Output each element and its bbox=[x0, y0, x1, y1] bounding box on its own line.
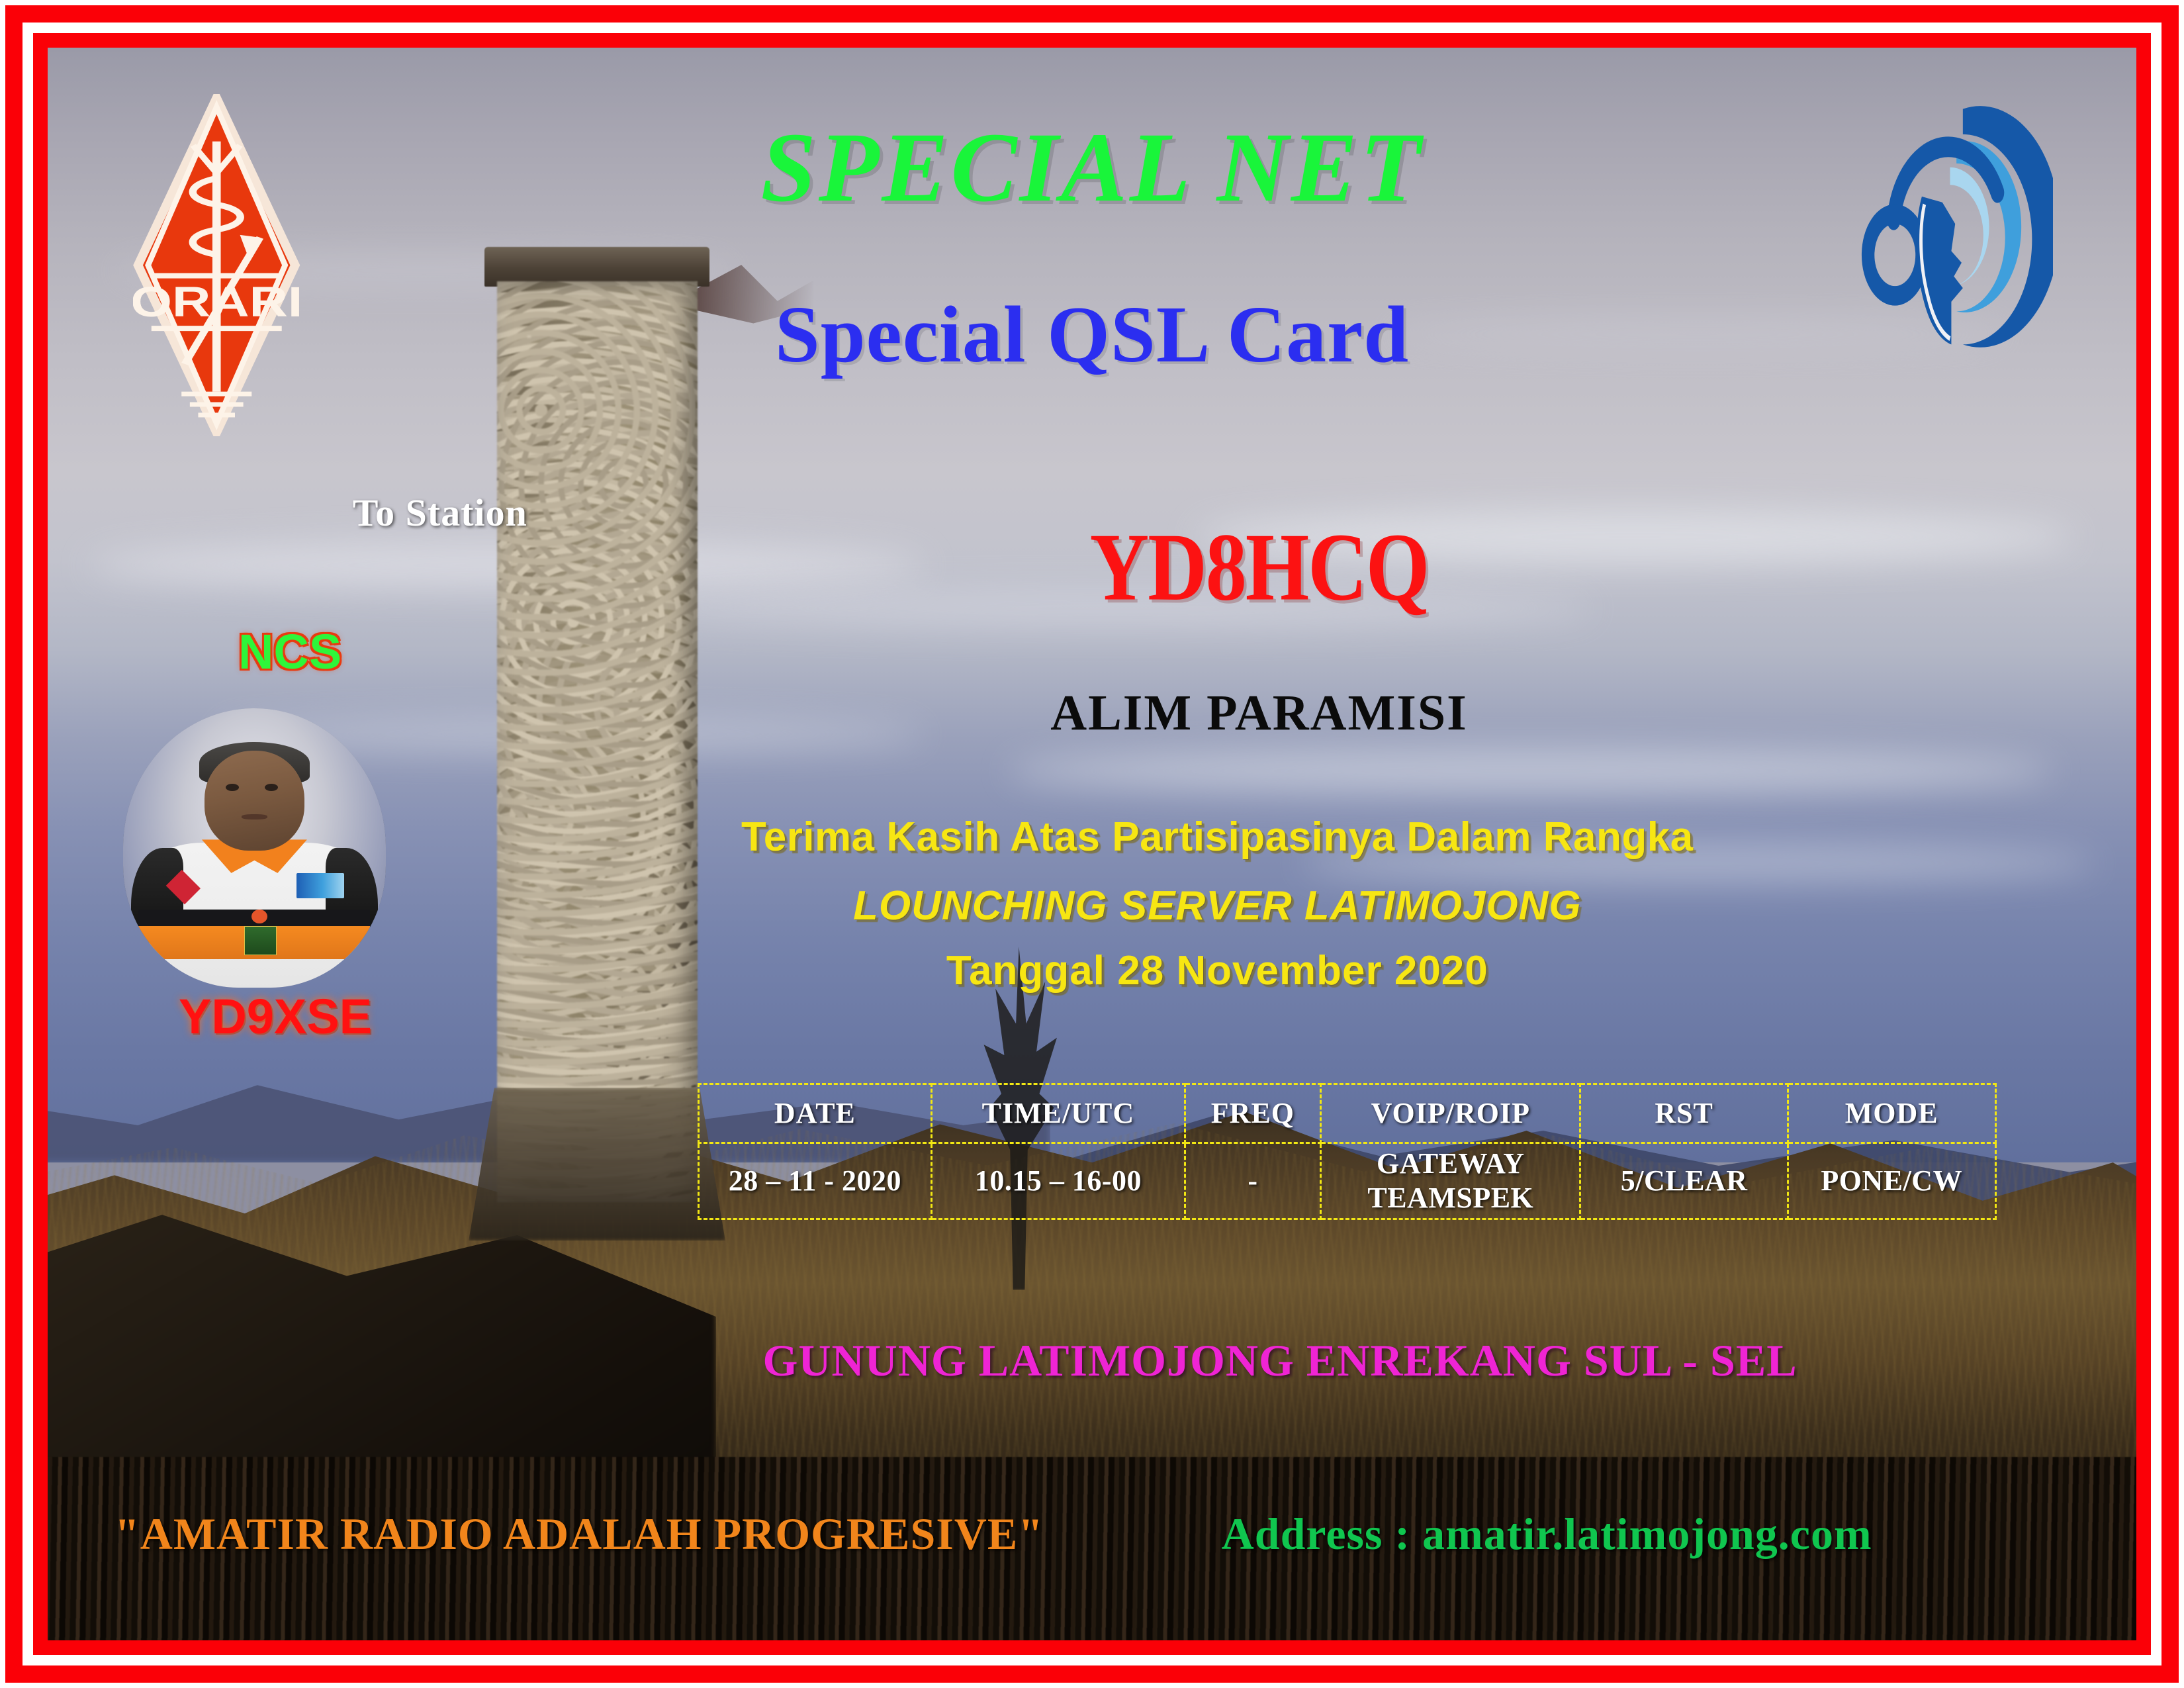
cloud-band bbox=[1009, 749, 2053, 793]
recipient-operator-name: ALIM PARAMISI bbox=[799, 688, 1719, 738]
cell-freq: - bbox=[1185, 1143, 1321, 1219]
table-header-row: DATE TIME/UTC FREQ VOIP/ROIP RST MODE bbox=[698, 1084, 1995, 1143]
stone-monument bbox=[497, 247, 698, 1203]
photo-face bbox=[205, 751, 304, 851]
thanks-line-3: Tanggal 28 November 2020 bbox=[716, 951, 1719, 992]
photo-badge-clip bbox=[251, 910, 267, 923]
recipient-callsign: YD8HCQ bbox=[841, 519, 1676, 616]
web-address: Address : amatir.latimojong.com bbox=[1222, 1511, 1872, 1556]
ncs-operator-photo bbox=[123, 708, 387, 987]
thanks-line-1: Terima Kasih Atas Partisipasinya Dalam R… bbox=[716, 817, 1719, 858]
column-header-mode: MODE bbox=[1788, 1084, 1995, 1143]
column-header-date: DATE bbox=[698, 1084, 932, 1143]
cell-mode: PONE/CW bbox=[1788, 1143, 1995, 1219]
activation-location: GUNUNG LATIMOJONG ENREKANG SUL - SEL bbox=[633, 1338, 1928, 1383]
ncs-callsign: YD9XSE bbox=[118, 992, 432, 1041]
column-header-freq: FREQ bbox=[1185, 1084, 1321, 1143]
cell-time-utc: 10.15 – 16-00 bbox=[932, 1143, 1185, 1219]
to-station-label: To Station bbox=[353, 494, 527, 532]
column-header-time-utc: TIME/UTC bbox=[932, 1084, 1185, 1143]
page-title-special-net: SPECIAL NET bbox=[48, 118, 2136, 217]
page-subtitle-special-qsl-card: Special QSL Card bbox=[48, 295, 2136, 375]
photo-club-patch bbox=[296, 873, 344, 898]
monument-body bbox=[497, 281, 698, 1203]
column-header-voip-roip: VOIP/ROIP bbox=[1321, 1084, 1580, 1143]
outer-red-frame: ORARI bbox=[5, 5, 2179, 1683]
cell-date: 28 – 11 - 2020 bbox=[698, 1143, 932, 1219]
table-row: 28 – 11 - 2020 10.15 – 16-00 - GATEWAY T… bbox=[698, 1143, 1995, 1219]
qsl-card: ORARI bbox=[0, 0, 2184, 1688]
photo-id-badge bbox=[244, 926, 277, 955]
cell-voip-roip: GATEWAY TEAMSPEK bbox=[1321, 1143, 1580, 1219]
qso-details-table: DATE TIME/UTC FREQ VOIP/ROIP RST MODE 28… bbox=[698, 1083, 1997, 1220]
photo-eye-left bbox=[226, 784, 239, 791]
ncs-label: NCS bbox=[165, 628, 416, 677]
cell-voip-roip-line-1: GATEWAY bbox=[1322, 1147, 1579, 1181]
thanks-line-2: LOUNCHING SERVER LATIMOJONG bbox=[716, 886, 1719, 927]
column-header-rst: RST bbox=[1580, 1084, 1788, 1143]
cell-voip-roip-line-2: TEAMSPEK bbox=[1322, 1181, 1579, 1215]
club-motto: "AMATIR RADIO ADALAH PROGRESIVE" bbox=[114, 1511, 1044, 1556]
monument-base bbox=[469, 1088, 725, 1241]
cell-rst: 5/CLEAR bbox=[1580, 1143, 1788, 1219]
photo-mouth bbox=[242, 814, 268, 820]
inner-red-frame: ORARI bbox=[33, 33, 2151, 1655]
